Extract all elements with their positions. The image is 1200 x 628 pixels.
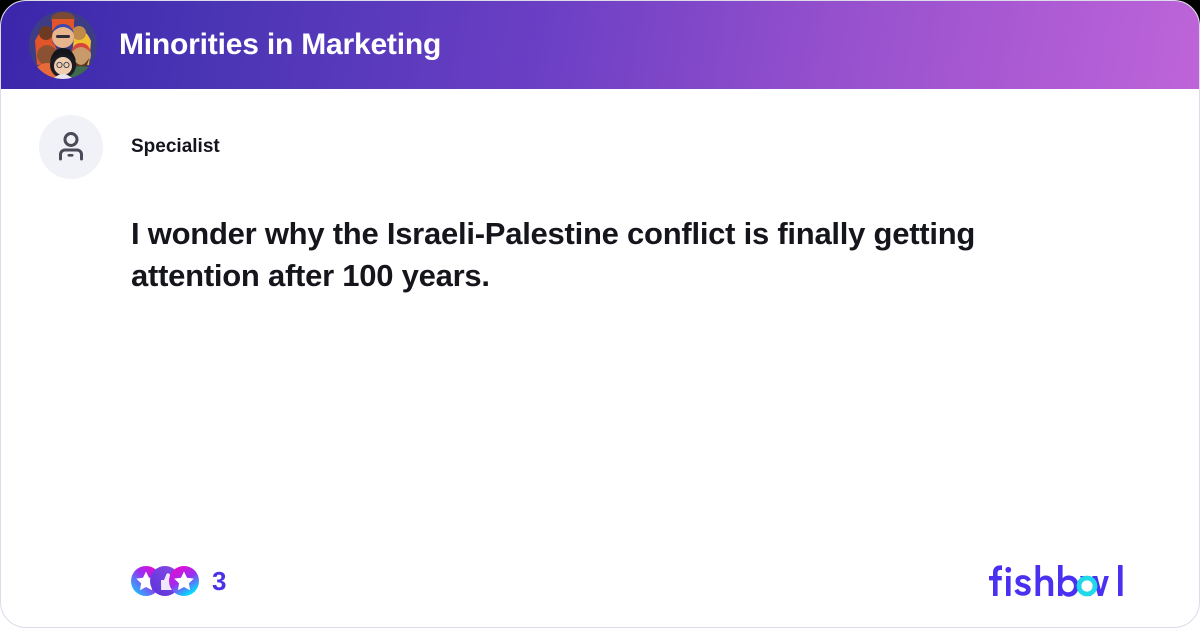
reaction-count: 3 [212, 568, 226, 594]
bowl-avatar[interactable] [29, 11, 97, 79]
reaction-badges[interactable] [131, 566, 199, 596]
post-footer: 3 [1, 533, 1199, 628]
post-author-row: Specialist [39, 115, 1159, 179]
fishbowl-logo: fishbowl [983, 558, 1125, 604]
fishbowl-post-card: Minorities in Marketing Specialist I won… [0, 0, 1200, 628]
star-reaction-icon[interactable] [169, 566, 199, 596]
post-body: Specialist I wonder why the Israeli-Pale… [1, 89, 1199, 628]
author-avatar[interactable] [39, 115, 103, 179]
person-outline-icon [53, 129, 89, 165]
bowl-title: Minorities in Marketing [119, 28, 441, 62]
post-text: I wonder why the Israeli-Palestine confl… [131, 213, 1061, 297]
bowl-header[interactable]: Minorities in Marketing [1, 1, 1199, 89]
author-name: Specialist [131, 136, 220, 158]
fishbowl-o-accent [1077, 576, 1098, 597]
screenshot-canvas: Minorities in Marketing Specialist I won… [0, 0, 1200, 628]
reactions-group[interactable]: 3 [131, 566, 226, 596]
